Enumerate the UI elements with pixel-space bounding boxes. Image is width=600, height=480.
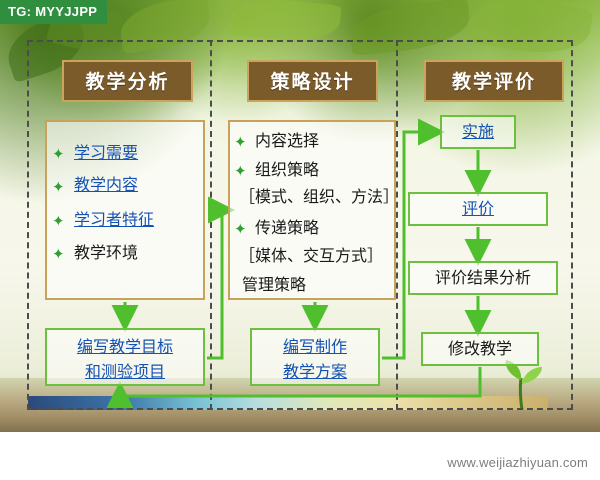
analysis-item-teaching-content: 教学内容 bbox=[74, 172, 138, 198]
evaluation-step-evaluate: 评价 bbox=[408, 195, 548, 223]
watermark: www.weijiazhiyuan.com bbox=[447, 455, 588, 470]
strategy-item-delivery: 传递策略 bbox=[255, 215, 319, 241]
diagram-canvas: TG: MYYJJPP www.weijiazhiyuan.com 教学分析 策… bbox=[0, 0, 600, 480]
column-header-strategy: 策略设计 bbox=[247, 60, 378, 102]
tg-tag: TG: MYYJJPP bbox=[0, 0, 107, 24]
strategy-item-management: 管理策略 bbox=[242, 272, 306, 298]
analysis-output-line1: 编写教学目标 bbox=[47, 334, 203, 359]
evaluation-step-analysis: 评价结果分析 bbox=[408, 264, 558, 292]
star-bullet-icon: ✦ bbox=[52, 214, 65, 229]
strategy-output-line1: 编写制作 bbox=[251, 334, 379, 359]
column-divider-2 bbox=[396, 40, 398, 410]
analysis-item-learning-needs: 学习需要 bbox=[74, 140, 138, 166]
column-divider-1 bbox=[210, 40, 212, 410]
strategy-detail-mode-org-method: ［模式、组织、方法］ bbox=[239, 184, 399, 210]
evaluation-step-implement: 实施 bbox=[440, 118, 516, 146]
analysis-item-learner-traits: 学习者特征 bbox=[74, 207, 154, 233]
strategy-detail-media-interaction: ［媒体、交互方式］ bbox=[239, 243, 383, 269]
column-header-evaluation: 教学评价 bbox=[424, 60, 564, 102]
star-bullet-icon: ✦ bbox=[234, 164, 247, 179]
leaf-decoration bbox=[228, 0, 342, 46]
star-bullet-icon: ✦ bbox=[52, 147, 65, 162]
star-bullet-icon: ✦ bbox=[52, 247, 65, 262]
star-bullet-icon: ✦ bbox=[52, 180, 65, 195]
strategy-output-line2: 教学方案 bbox=[251, 359, 379, 384]
star-bullet-icon: ✦ bbox=[234, 135, 247, 150]
analysis-output-line2: 和测验项目 bbox=[47, 359, 203, 384]
evaluation-step-revise: 修改教学 bbox=[421, 335, 539, 363]
star-bullet-icon: ✦ bbox=[234, 222, 247, 237]
column-header-analysis: 教学分析 bbox=[62, 60, 193, 102]
strategy-item-content-selection: 内容选择 bbox=[255, 128, 319, 154]
strategy-item-organization: 组织策略 bbox=[255, 157, 319, 183]
analysis-item-teaching-environment: 教学环境 bbox=[74, 240, 138, 266]
